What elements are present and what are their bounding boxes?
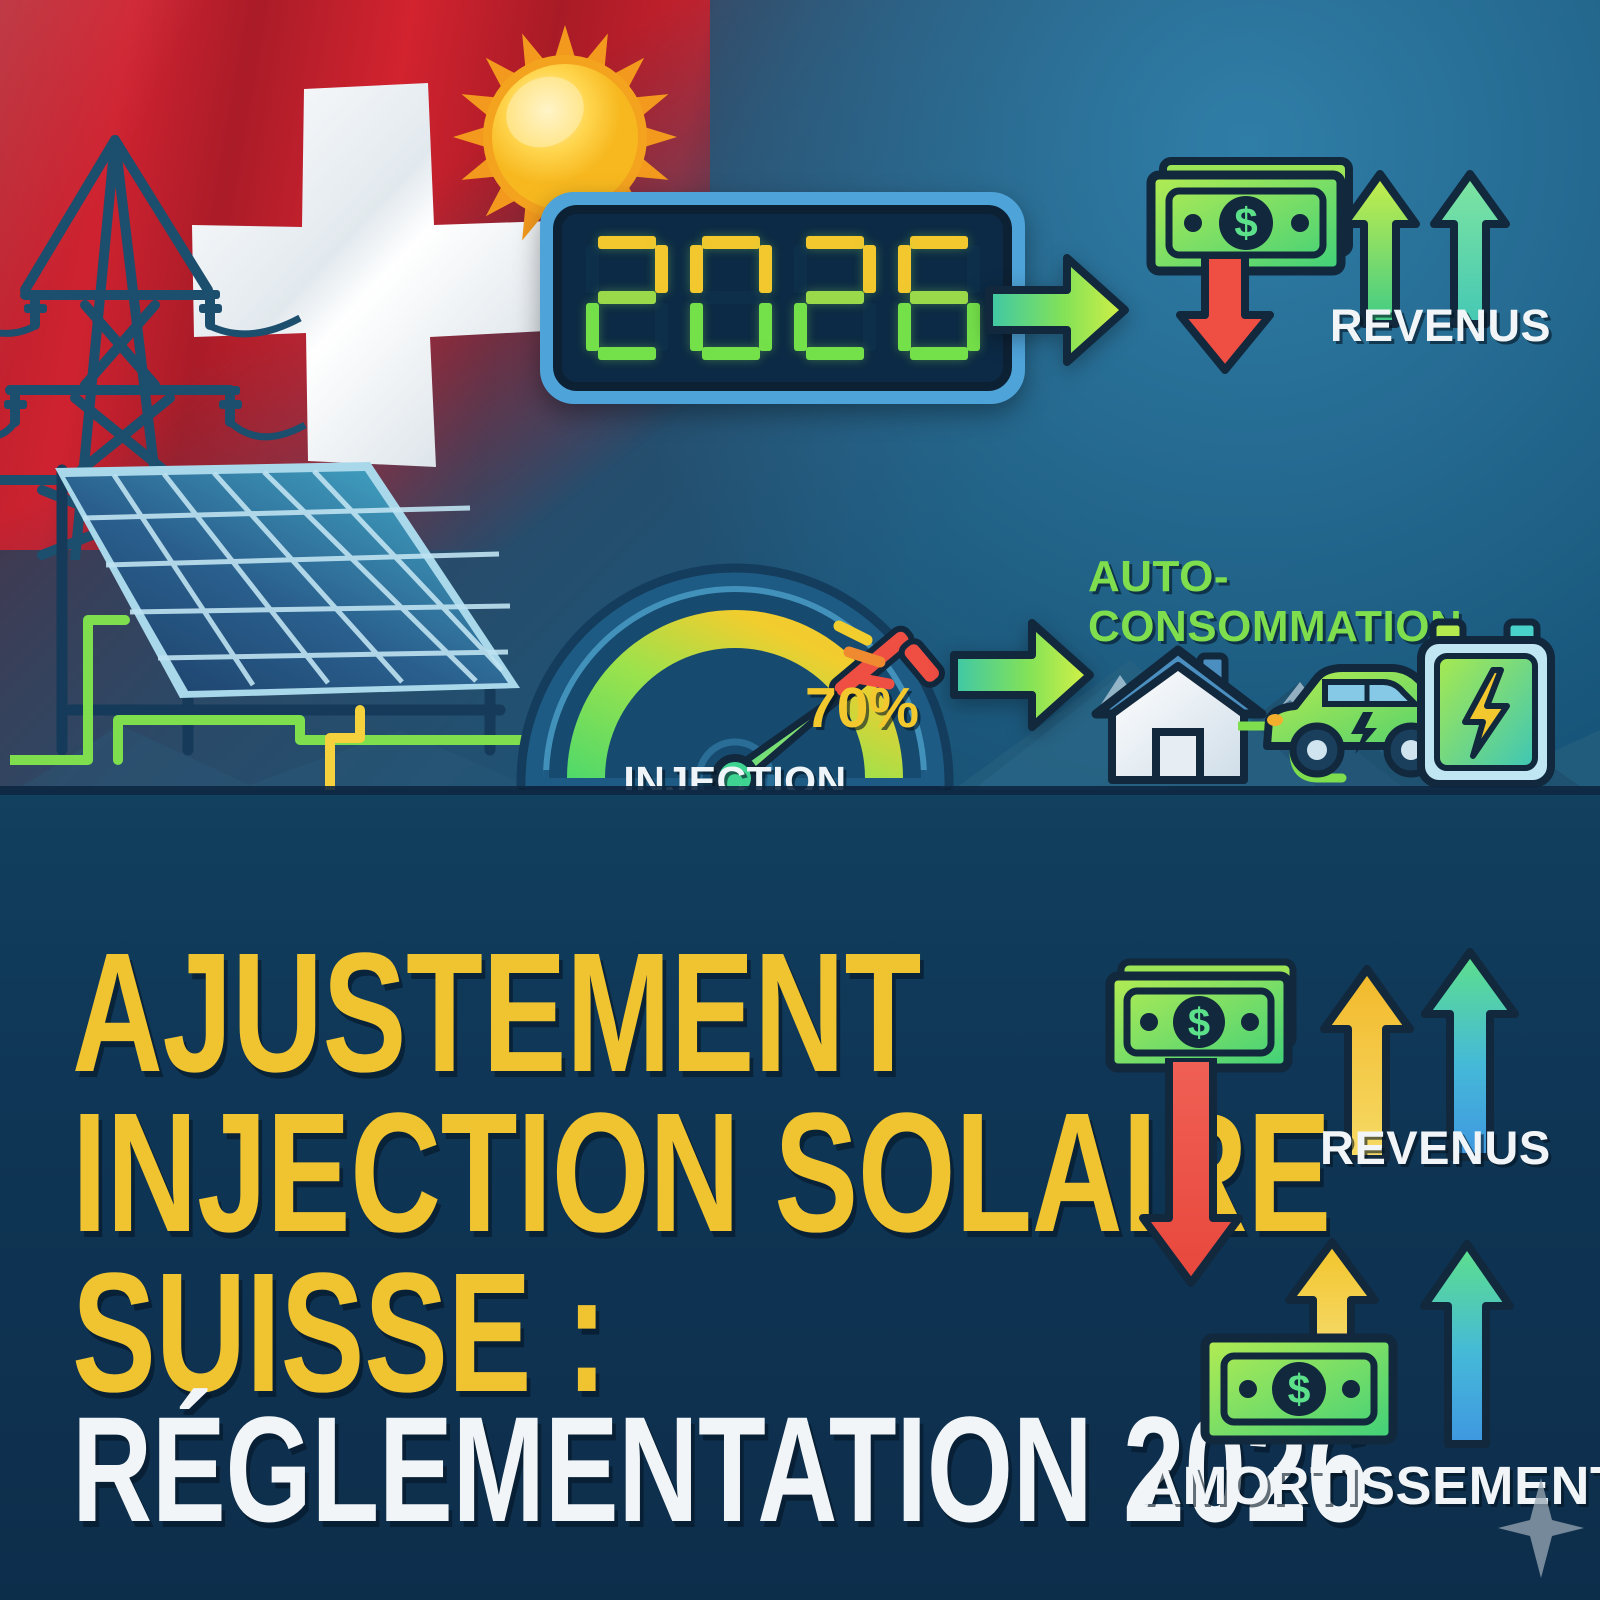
year-display-screen — [553, 205, 1012, 391]
arrow-up-icon — [1420, 1240, 1515, 1450]
arrow-down-icon — [1137, 1058, 1247, 1288]
year-display — [540, 192, 1025, 404]
seven-seg-digit — [898, 236, 980, 360]
seven-seg-digit — [586, 236, 668, 360]
sparkle-diamond-icon — [1498, 1478, 1584, 1578]
arrow-down-icon — [1175, 255, 1275, 375]
ground-line — [0, 786, 1600, 795]
seven-seg-digit — [690, 236, 772, 360]
svg-text:$: $ — [1234, 199, 1257, 246]
infographic-canvas: 2026 $ REVENUS — [0, 0, 1600, 1600]
revenus-label-top: REVENUS — [1330, 300, 1551, 352]
money-bill-icon: $ — [1200, 1330, 1400, 1450]
title-line-1: AJUSTEMENT — [72, 935, 921, 1091]
solar-panel-icon — [10, 420, 550, 800]
battery-icon — [1415, 618, 1560, 788]
svg-text:$: $ — [1188, 1001, 1210, 1045]
gauge-value-label: 70% — [805, 675, 919, 741]
revenus-label-bottom: REVENUS — [1320, 1120, 1551, 1175]
arrow-right-icon — [950, 615, 1095, 735]
seven-seg-digit — [794, 236, 876, 360]
svg-text:$: $ — [1288, 1366, 1311, 1412]
arrow-right-icon — [985, 250, 1130, 370]
